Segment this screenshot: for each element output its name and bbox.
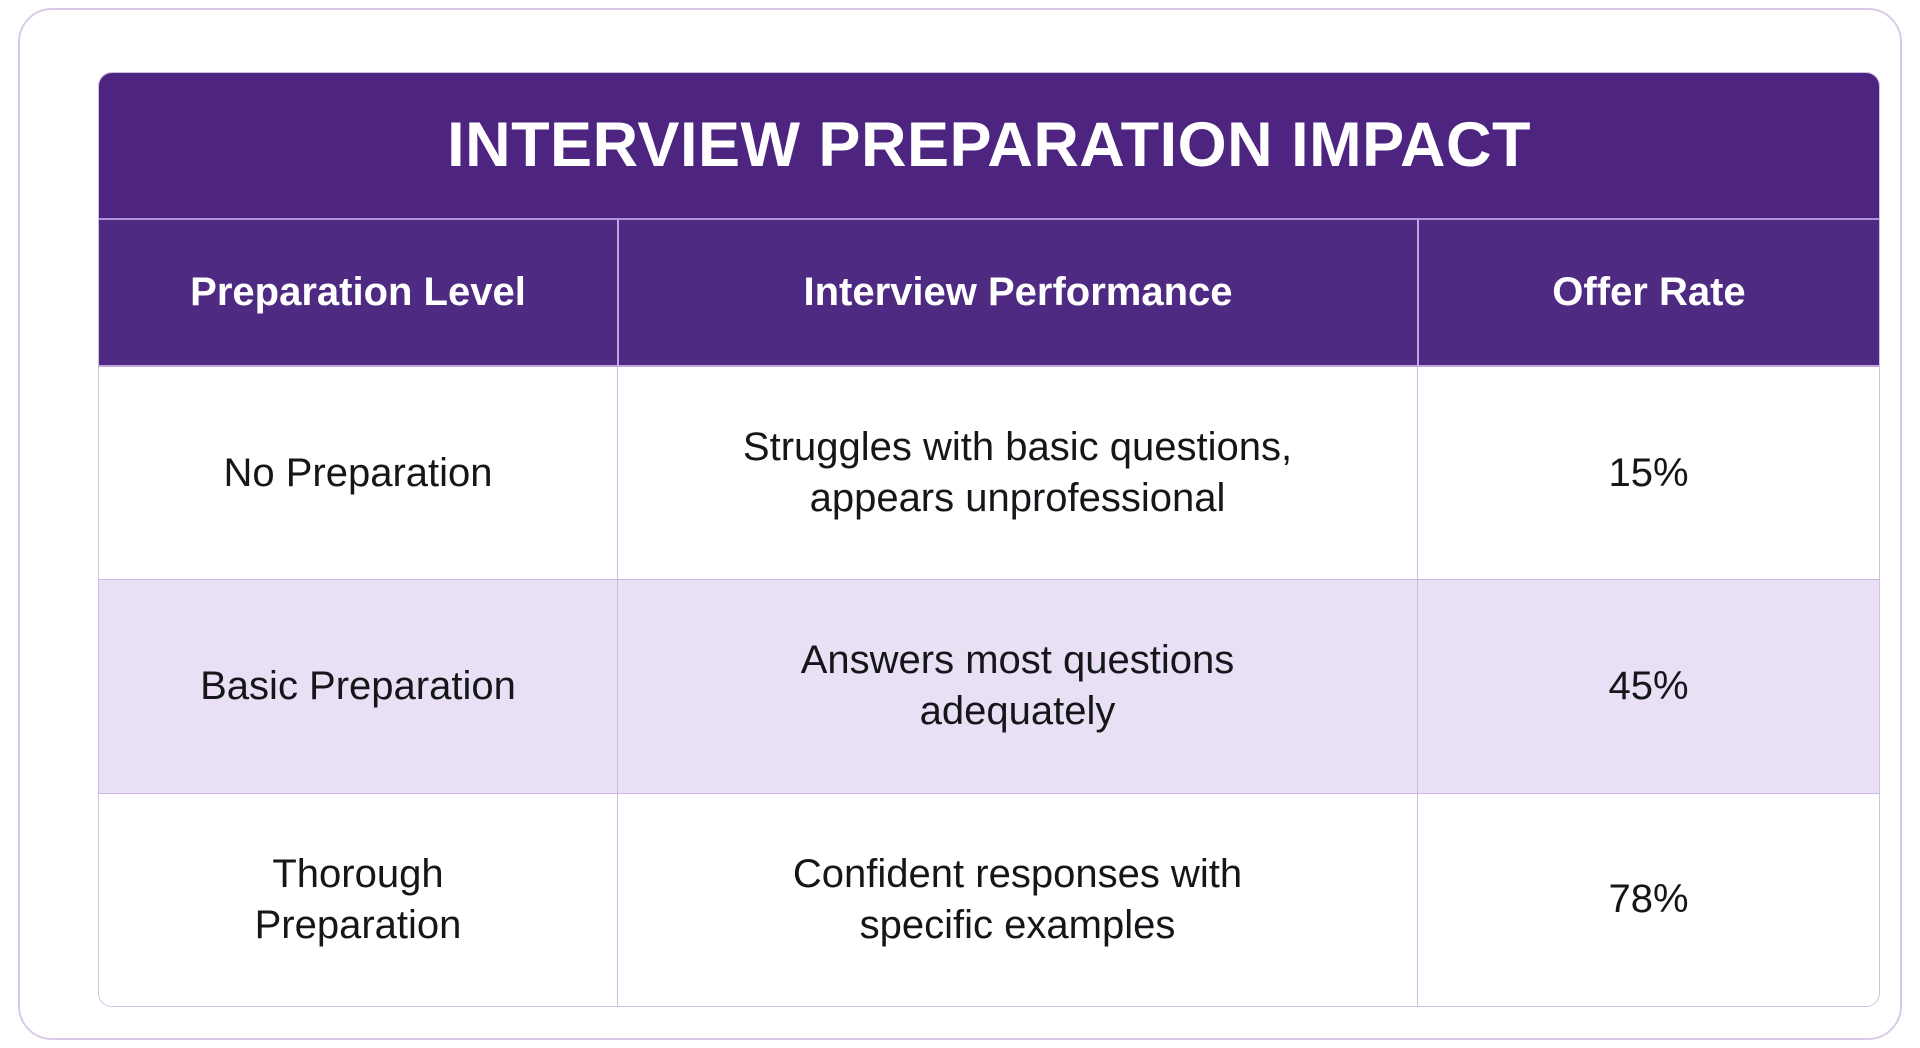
cell-text: Struggles with basic questions, appears … (644, 422, 1391, 524)
column-header-offer-rate: Offer Rate (1417, 220, 1879, 365)
cell-interview-performance: Confident responses with specific exampl… (617, 794, 1417, 1006)
cell-preparation-level: Basic Preparation (99, 580, 617, 792)
cell-offer-rate: 15% (1417, 367, 1879, 579)
cell-text: Confident responses with specific exampl… (644, 849, 1391, 951)
cell-preparation-level: Thorough Preparation (99, 794, 617, 1006)
page-title: INTERVIEW PREPARATION IMPACT (447, 112, 1531, 178)
cell-text: 45% (1444, 661, 1853, 712)
column-header-label: Offer Rate (1552, 270, 1745, 315)
table-row: No Preparation Struggles with basic ques… (99, 367, 1879, 580)
cell-offer-rate: 78% (1417, 794, 1879, 1006)
column-header-preparation-level: Preparation Level (99, 220, 617, 365)
column-header-label: Preparation Level (190, 270, 526, 315)
cell-offer-rate: 45% (1417, 580, 1879, 792)
cell-text: No Preparation (125, 448, 591, 499)
interview-preparation-impact-table: INTERVIEW PREPARATION IMPACT Preparation… (98, 72, 1880, 1007)
column-header-label: Interview Performance (803, 270, 1232, 315)
table-row: Basic Preparation Answers most questions… (99, 580, 1879, 793)
table-header-row: Preparation Level Interview Performance … (99, 220, 1879, 367)
cell-text: 15% (1444, 448, 1853, 499)
table-row: Thorough Preparation Confident responses… (99, 794, 1879, 1006)
cell-text: Thorough Preparation (125, 849, 591, 951)
outer-card-frame: INTERVIEW PREPARATION IMPACT Preparation… (18, 8, 1902, 1040)
cell-interview-performance: Answers most questions adequately (617, 580, 1417, 792)
cell-text: 78% (1444, 874, 1853, 925)
cell-text: Answers most questions adequately (644, 635, 1391, 737)
column-header-interview-performance: Interview Performance (617, 220, 1417, 365)
table-title-bar: INTERVIEW PREPARATION IMPACT (99, 73, 1879, 220)
page-root: INTERVIEW PREPARATION IMPACT Preparation… (0, 0, 1920, 1048)
cell-preparation-level: No Preparation (99, 367, 617, 579)
cell-interview-performance: Struggles with basic questions, appears … (617, 367, 1417, 579)
cell-text: Basic Preparation (125, 661, 591, 712)
